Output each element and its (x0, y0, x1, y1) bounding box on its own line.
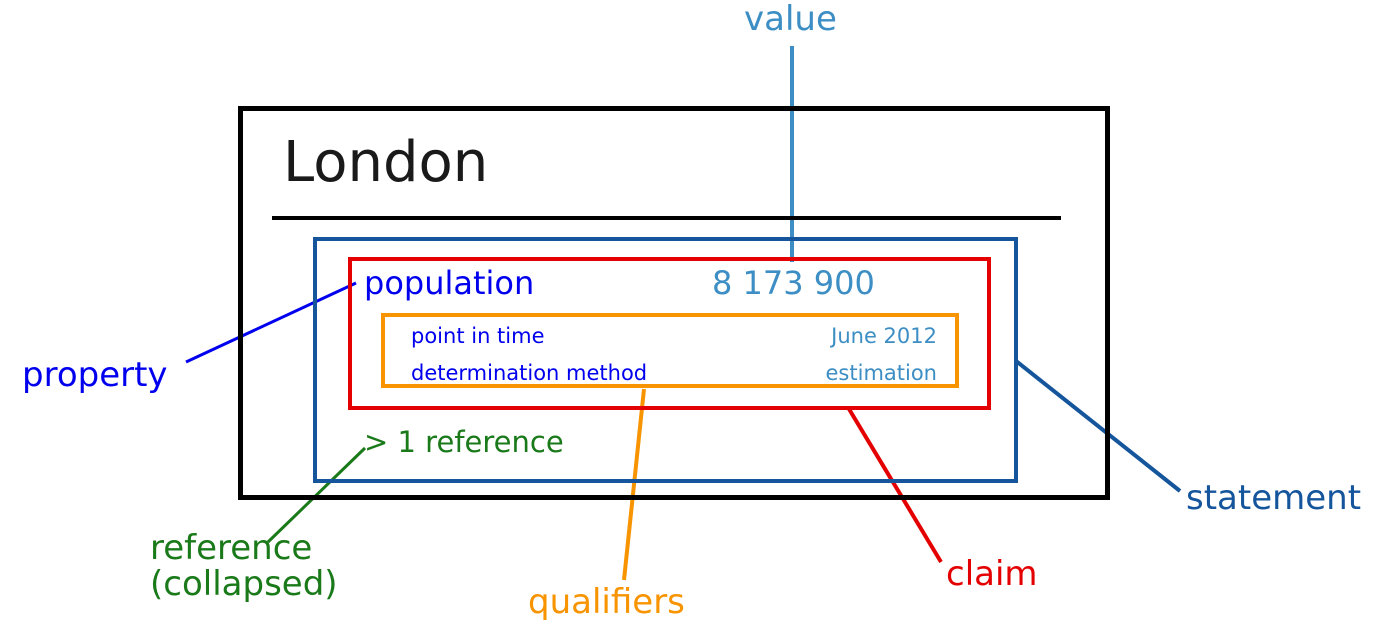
callout-value: value (744, 2, 837, 38)
callout-reference-line2: (collapsed) (150, 567, 338, 603)
item-title-divider (272, 216, 1061, 220)
item-title: London (283, 135, 488, 191)
reference-collapsed-text[interactable]: > 1 reference (364, 428, 564, 457)
diagram-canvas: London population 8 173 900 point in tim… (0, 0, 1385, 634)
qualifier-value-determination-method: estimation (826, 363, 937, 384)
callout-claim: claim (946, 557, 1038, 593)
callout-qualifiers: qualifiers (528, 585, 685, 621)
callout-reference: reference (collapsed) (150, 531, 338, 602)
qualifier-key-determination-method[interactable]: determination method (411, 363, 647, 384)
callout-property: property (22, 358, 168, 394)
qualifier-value-point-in-time: June 2012 (831, 326, 937, 347)
callout-statement: statement (1186, 481, 1361, 517)
callout-reference-line1: reference (150, 528, 312, 568)
qualifier-key-point-in-time[interactable]: point in time (411, 326, 545, 347)
value-label: 8 173 900 (712, 267, 875, 299)
property-label[interactable]: population (364, 267, 534, 299)
